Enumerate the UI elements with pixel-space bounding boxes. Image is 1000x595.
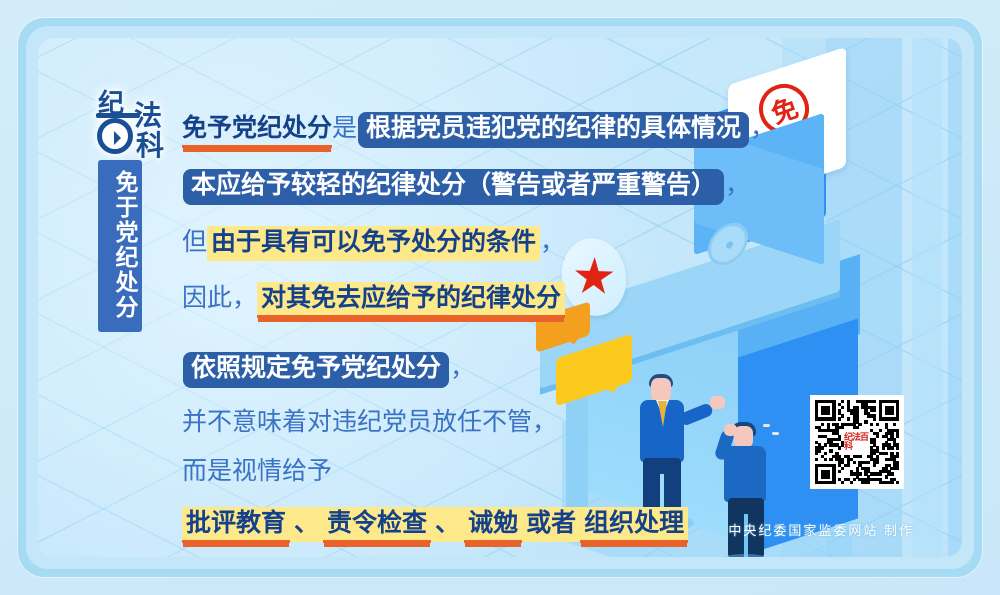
qr-module (890, 412, 893, 415)
qr-module (885, 452, 888, 455)
qr-module (847, 464, 850, 467)
text-segment: 而是视情给予 (182, 458, 332, 486)
text-segment: 或者 (522, 507, 580, 542)
text-line: 批评教育、责令检查、诫勉或者组织处理 (182, 507, 782, 543)
qr-module (821, 423, 824, 426)
qr-module (829, 458, 832, 461)
qr-module (821, 446, 824, 449)
text-line: 因此，对其免去应给予的纪律处分 (182, 282, 782, 318)
qr-module (858, 472, 861, 475)
text-segment: 因此， (182, 285, 257, 313)
qr-module (824, 452, 827, 455)
qr-module (896, 446, 899, 449)
qr-module (838, 446, 841, 449)
text-segment: ， (725, 172, 750, 200)
qr-module (890, 472, 893, 475)
text-segment: 根据党员违犯党的纪律的具体情况 (358, 112, 749, 148)
qr-module (879, 429, 882, 432)
text-segment: 责令检查 (323, 507, 431, 543)
text-segment: 、 (431, 507, 464, 542)
qr-module (815, 458, 818, 461)
qr-module (893, 423, 896, 426)
text-segment: 本应给予较轻的纪律处分（警告或者严重警告） (183, 169, 724, 205)
qr-module (896, 435, 899, 438)
text-segment: 但 (182, 229, 207, 257)
background-band-2 (912, 38, 942, 557)
qr-module (827, 412, 830, 415)
logo-play-circle-icon (97, 118, 133, 154)
qr-module (870, 423, 873, 426)
qr-module (832, 417, 835, 420)
qr-module (876, 435, 879, 438)
paragraph-1: 免予党纪处分是根据党员违犯党的纪律的具体情况， 本应给予较轻的纪律处分（警告或者… (182, 112, 782, 318)
qr-module (896, 481, 899, 484)
qr-module (882, 446, 885, 449)
credit-text: 中央纪委国家监委网站 制作 (728, 520, 914, 539)
qr-module (873, 464, 876, 467)
qr-module (841, 406, 844, 409)
qr-module (890, 446, 893, 449)
qr-module (841, 467, 844, 470)
text-segment: 是 (332, 115, 357, 143)
qr-module (896, 417, 899, 420)
qr-module (879, 472, 882, 475)
logo-char-ke: 科 (136, 132, 164, 160)
qr-module (841, 414, 844, 417)
qr-module (815, 452, 818, 455)
qr-module (853, 478, 856, 481)
qr-module (841, 400, 844, 403)
qr-module (858, 423, 861, 426)
qr-module (896, 455, 899, 458)
qr-module (824, 443, 827, 446)
text-segment: ， (540, 229, 565, 257)
qr-module (841, 481, 844, 484)
qr-module (850, 481, 853, 484)
paragraph-2: 依照规定免予党纪处分， 并不意味着对违纪党员放任不管， 而是视情给予 批评教育、… (182, 352, 782, 543)
qr-module (847, 417, 850, 420)
text-segment: 依照规定免予党纪处分 (183, 352, 449, 388)
qr-module (885, 475, 888, 478)
qr-module (838, 417, 841, 420)
vertical-title-ribbon: 免于党纪处分 (98, 160, 142, 332)
text-segment: 对其免去应给予的纪律处分 (257, 282, 565, 318)
qr-module (873, 400, 876, 403)
text-segment: 批评教育 (182, 507, 290, 543)
text-segment: ， (450, 355, 475, 383)
text-line: 但 由于具有可以免予处分的条件 ， (182, 226, 782, 261)
text-line: 免予党纪处分是根据党员违犯党的纪律的具体情况， (182, 112, 782, 148)
qr-module (873, 417, 876, 420)
text-segment: 、 (290, 507, 323, 542)
text-segment: 组织处理 (580, 507, 688, 543)
qr-module (864, 420, 867, 423)
qr-module (896, 467, 899, 470)
qr-module (838, 470, 841, 473)
background-band-3 (948, 38, 962, 557)
text-segment: 并不意味着对违纪党员放任不管， (182, 409, 557, 437)
logo-bar (96, 113, 140, 118)
qr-module (873, 409, 876, 412)
infographic-poster: 免 (0, 0, 1000, 595)
text-line: 依照规定免予党纪处分， (182, 352, 782, 388)
qr-module (818, 449, 821, 452)
poster-canvas: 免 (38, 38, 962, 557)
text-segment: 免予党纪处分 (182, 115, 332, 148)
qr-module (876, 423, 879, 426)
qr-module (824, 458, 827, 461)
qr-module (867, 461, 870, 464)
qr-module (867, 481, 870, 484)
jifabaike-logo-icon: 纪 法 科 (94, 88, 178, 162)
text-segment: 由于具有可以免予处分的条件 (207, 226, 540, 261)
qr-code[interactable]: 纪法百科 (810, 395, 904, 489)
text-line: 并不意味着对违纪党员放任不管， (182, 409, 782, 437)
qr-module (876, 461, 879, 464)
qr-module (827, 475, 830, 478)
text-segment: ， (750, 115, 775, 143)
qr-module (853, 461, 856, 464)
qr-module (890, 481, 893, 484)
text-line: 本应给予较轻的纪律处分（警告或者严重警告）， (182, 169, 782, 205)
qr-center-logo: 纪法百科 (844, 429, 870, 455)
brand-logo-block: 纪 法 科 免于党纪处分 (94, 88, 180, 338)
text-content-block: 免予党纪处分是根据党员违犯党的纪律的具体情况， 本应给予较轻的纪律处分（警告或者… (182, 112, 782, 557)
text-segment: 诫勉 (464, 507, 522, 543)
qr-module (829, 449, 832, 452)
text-line: 而是视情给予 (182, 458, 782, 486)
qr-module (832, 481, 835, 484)
qr-module (858, 455, 861, 458)
